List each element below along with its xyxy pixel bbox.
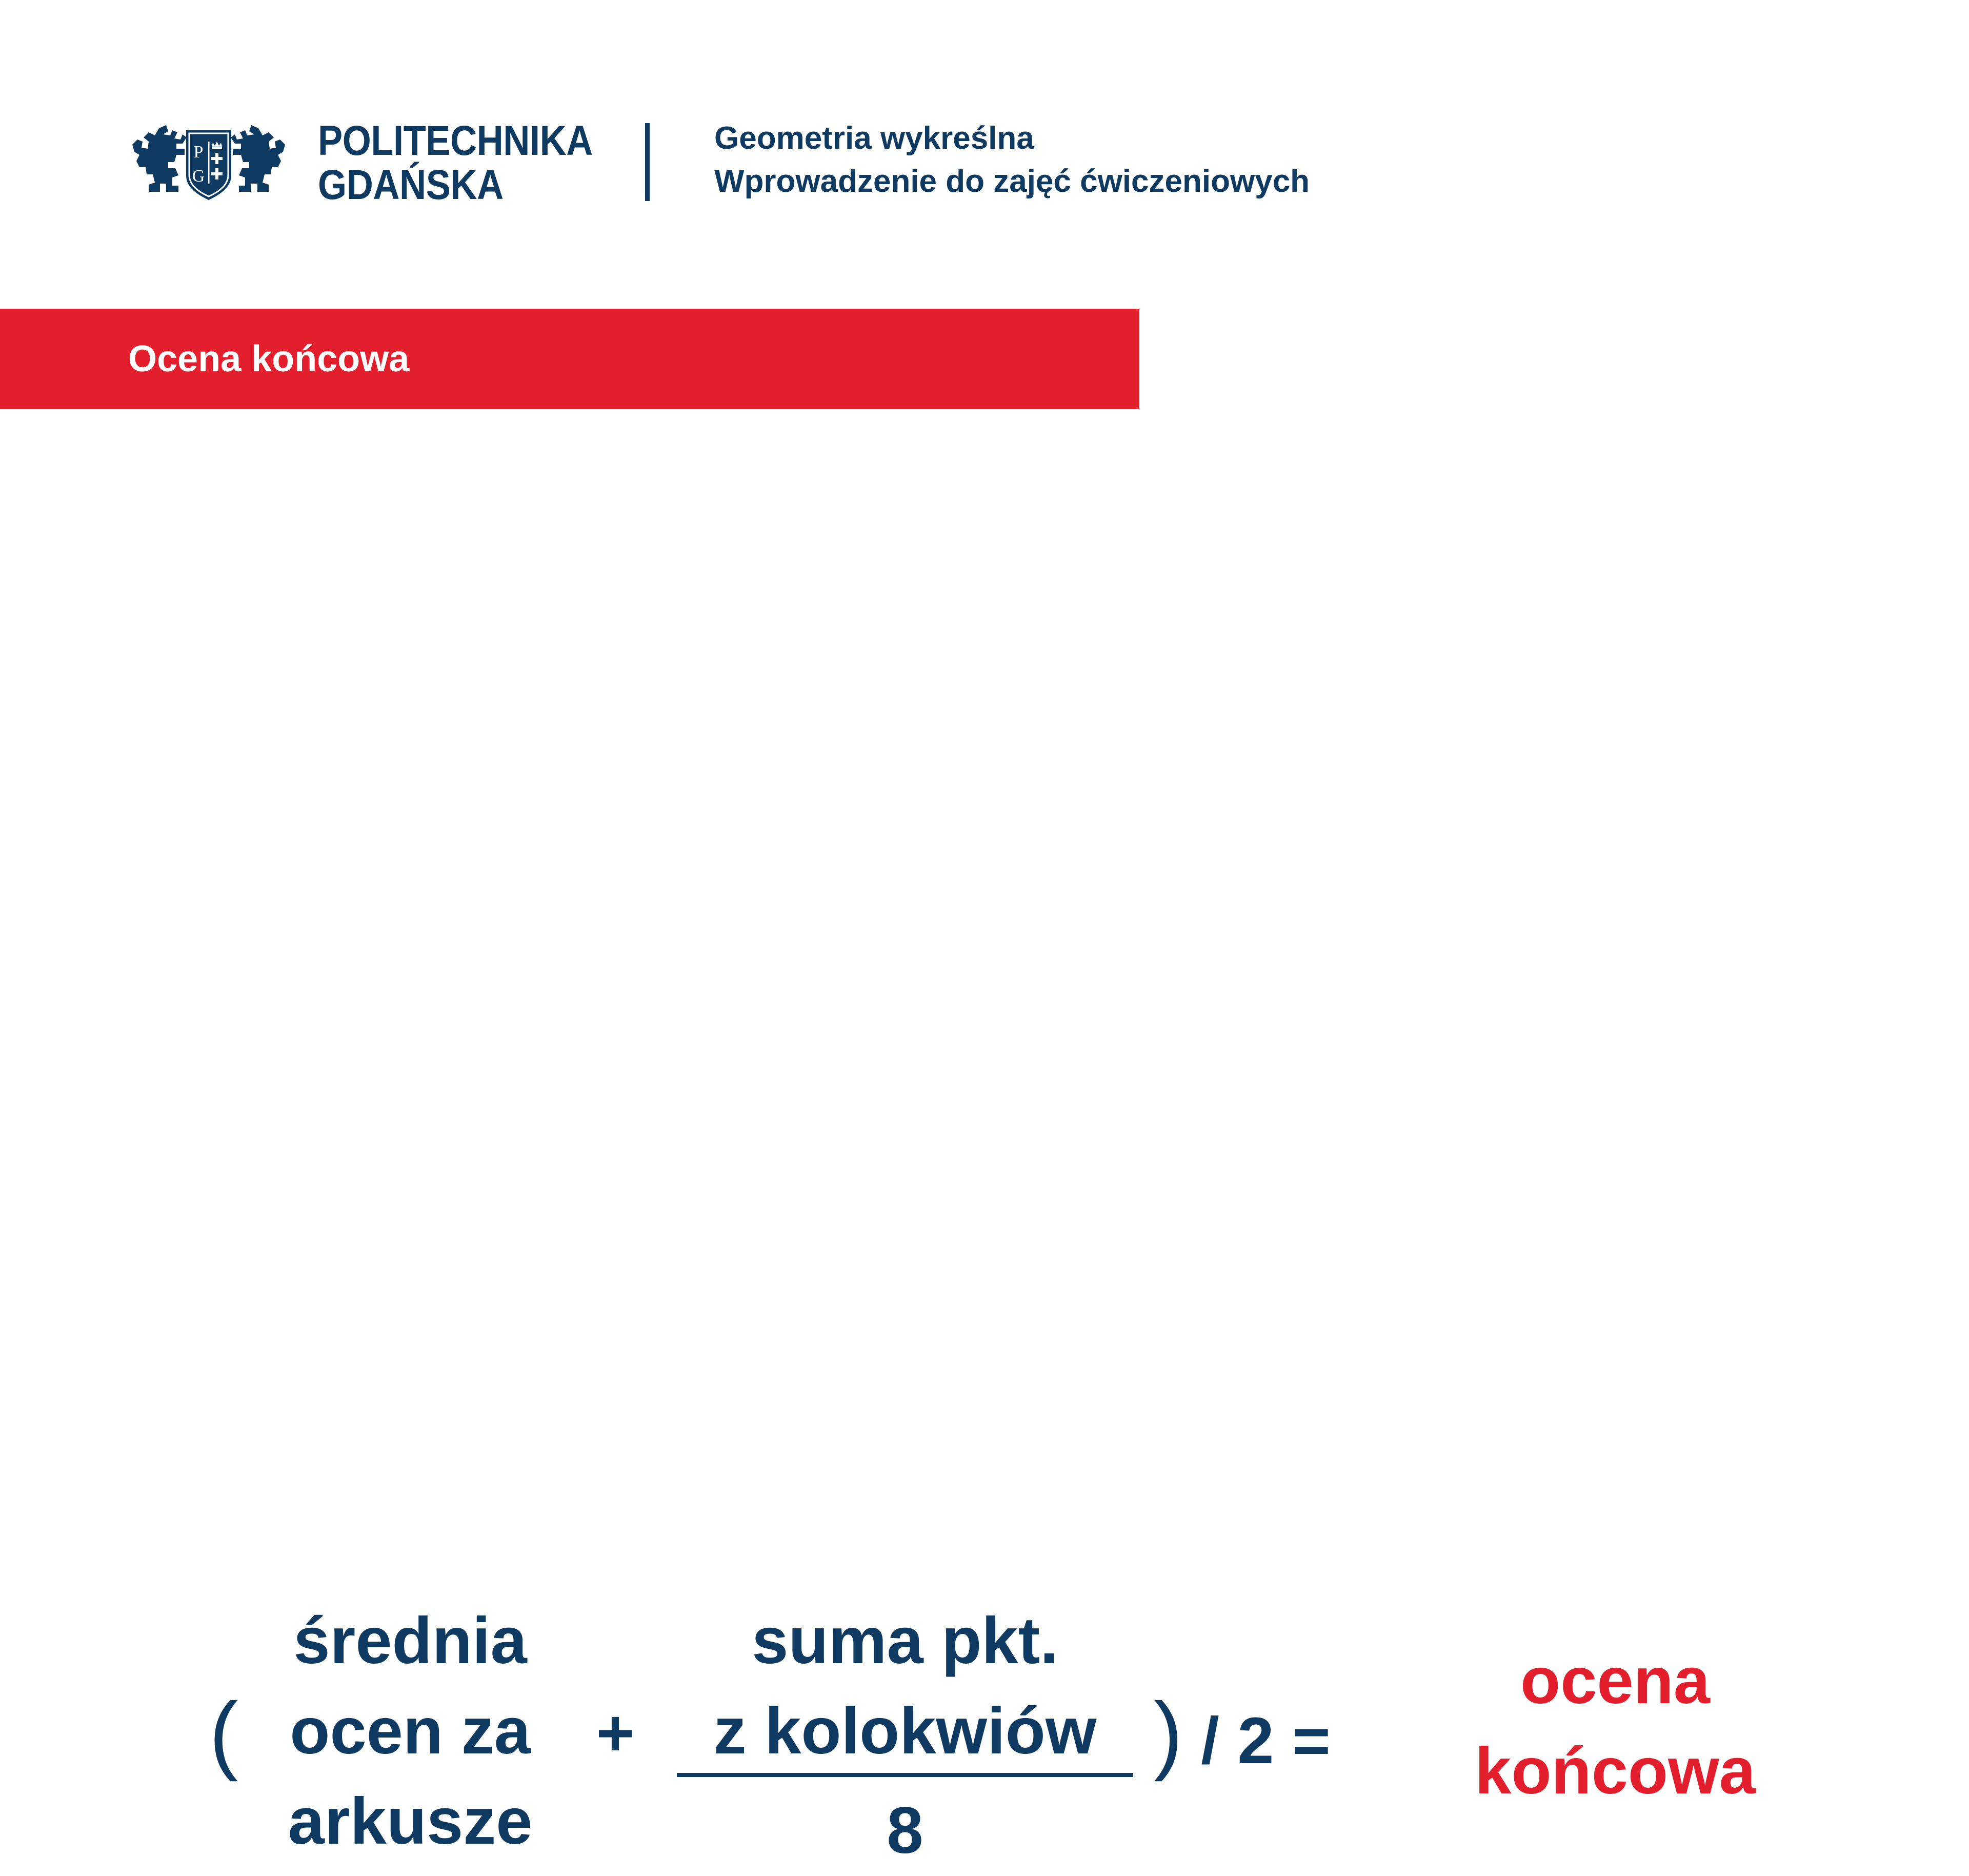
svg-text:G: G (192, 167, 205, 186)
average-line-2: ocen za (241, 1686, 579, 1777)
fraction-denominator: 8 (667, 1786, 1143, 1876)
wordmark-line-politechnika: POLITECHNIKA (318, 119, 589, 163)
average-line-3: arkusze (241, 1777, 579, 1867)
section-banner-label: Ocena końcowa (128, 334, 409, 384)
lion-right-icon (231, 125, 285, 192)
grade-formula: ( średnia ocen za arkusze + suma pkt. z … (0, 790, 1969, 1108)
svg-text:P: P (194, 143, 204, 162)
numerator-line-1: suma pkt. (667, 1596, 1143, 1686)
pg-coat-of-arms-icon: P G (119, 114, 298, 206)
formula-term-average: średnia ocen za arkusze (241, 1596, 579, 1867)
result-line-1: ocena (1379, 1636, 1851, 1726)
wordmark-line-gdanska: GDAŃSKA (318, 163, 589, 207)
section-banner: Ocena końcowa (0, 309, 1139, 409)
formula-open-paren: ( (209, 1690, 238, 1777)
formula-fraction: suma pkt. z kolokwiów 8 (667, 1596, 1143, 1777)
university-wordmark: POLITECHNIKA GDAŃSKA (318, 119, 589, 206)
formula-close-paren: ) (1154, 1685, 1183, 1782)
course-subtitle: Wprowadzenie do zajęć ćwiczeniowych (714, 160, 1791, 203)
average-line-1: średnia (241, 1596, 579, 1686)
formula-divide-by-two: / 2 = (1201, 1704, 1331, 1778)
shield-icon: P G (186, 130, 231, 200)
fraction-numerator: suma pkt. z kolokwiów (667, 1596, 1143, 1777)
header-title-group: Geometria wykreślna Wprowadzenie do zaję… (714, 117, 1791, 203)
lion-left-icon (132, 125, 187, 192)
page-header: P G (0, 0, 1969, 309)
formula-close-and-divide: ) / 2 = (1154, 1688, 1331, 1786)
formula-plus-operator: + (579, 1692, 651, 1774)
header-vertical-divider (645, 123, 650, 201)
course-title: Geometria wykreślna (714, 117, 1791, 160)
numerator-line-2: z kolokwiów (667, 1686, 1143, 1777)
fraction-bar (677, 1773, 1133, 1777)
formula-result-final-grade: ocena końcowa (1379, 1636, 1851, 1817)
university-logo: P G (119, 114, 621, 206)
result-line-2: końcowa (1379, 1726, 1851, 1817)
